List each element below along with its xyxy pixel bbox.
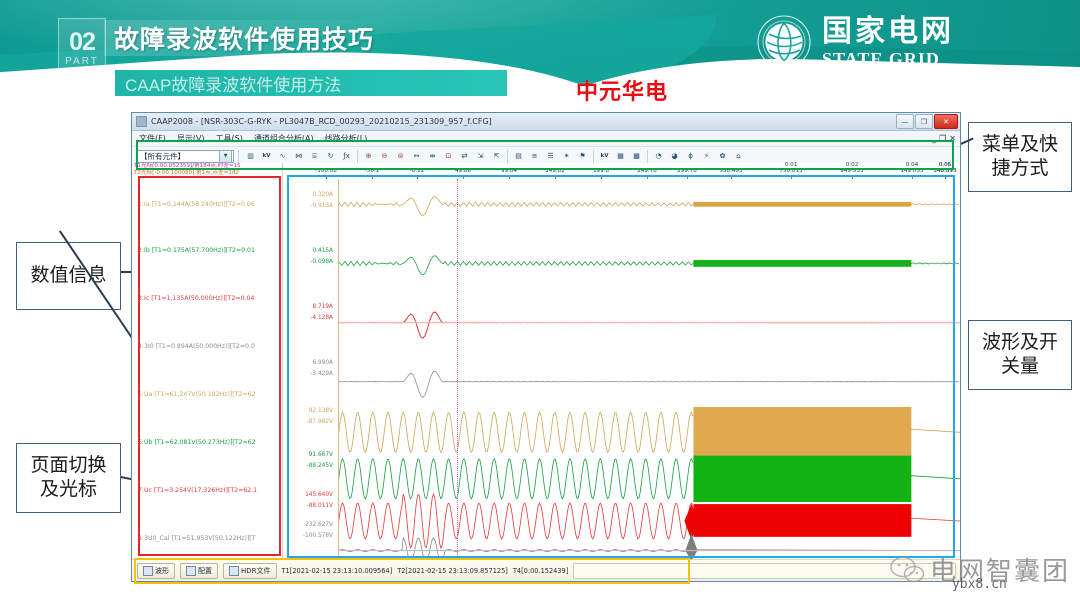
channel-item-3u0_cal[interactable]: 8:3U0_Cal [T1=51.953V(50.122Hz)][T bbox=[138, 535, 256, 542]
callout-wave-line1: 波形及开 bbox=[982, 332, 1058, 353]
callout-wave: 波形及开 关量 bbox=[968, 320, 1072, 390]
list-icon[interactable]: ≡ bbox=[527, 149, 542, 164]
menu-item-tools[interactable]: 工具(S) bbox=[216, 133, 243, 144]
zoom-fit-icon[interactable]: ⊜ bbox=[393, 149, 408, 164]
page-subtitle: CAAP故障录波软件使用方法 bbox=[125, 71, 341, 96]
waveform-plot-area[interactable]: 0.320A-0.913A0.415A-0.098A8.719A-4.128A6… bbox=[283, 179, 960, 559]
matrix-alt-icon[interactable]: ▩ bbox=[629, 149, 644, 164]
time-second-label: 0:01 bbox=[785, 162, 798, 168]
mdi-minimize-button[interactable]: _ bbox=[932, 134, 936, 143]
channel-item-ia[interactable]: 1:Ia [T1=0.144A(58.240Hz)][T2=0.06 bbox=[138, 201, 255, 208]
waveform-trace bbox=[339, 371, 959, 397]
menu-item-view[interactable]: 显示(V) bbox=[177, 133, 205, 144]
time-tick-label: -100.08 bbox=[315, 168, 337, 174]
time-tick-label: -50.1 bbox=[365, 168, 379, 174]
kv-label-icon[interactable]: kV bbox=[597, 149, 612, 164]
zoom-out-icon[interactable]: ⊖ bbox=[377, 149, 392, 164]
harmonic-icon[interactable]: ⌸ bbox=[307, 149, 322, 164]
scale-max-ib: 0.415A bbox=[285, 248, 333, 254]
mdi-close-button[interactable]: ✕ bbox=[949, 134, 956, 143]
state-grid-brand: 国家电网 STATE GRID bbox=[756, 14, 954, 70]
status-t4: T4[0:00.152439] bbox=[513, 567, 568, 575]
app-icon bbox=[136, 116, 147, 127]
lock-icon[interactable]: ⌂ bbox=[731, 149, 746, 164]
matrix-icon[interactable]: ▦ bbox=[613, 149, 628, 164]
slide-subtitle-bar: CAAP故障录波软件使用方法 bbox=[115, 70, 507, 96]
scale-max-uc: 145.640V bbox=[285, 492, 333, 498]
kv-units-icon[interactable]: kV bbox=[259, 149, 274, 164]
sequence-icon[interactable]: ⇱ bbox=[489, 149, 504, 164]
slide-title-bar: 故障录波软件使用技巧 bbox=[104, 20, 396, 56]
callout-menu-line1: 菜单及快 bbox=[982, 134, 1058, 155]
mdi-window-controls: _ ❐ ✕ bbox=[932, 134, 956, 143]
channel-item-3i0[interactable]: 4:3I0 [T1=0.894A(50.000Hz)][T2=0.0 bbox=[138, 343, 255, 350]
t2-cursor-line[interactable] bbox=[338, 179, 339, 559]
waveform-trace bbox=[339, 312, 959, 338]
zoom-region-icon[interactable]: ⊡ bbox=[441, 149, 456, 164]
status-tab-hdr-file[interactable]: HDR文件 bbox=[223, 563, 277, 579]
part-badge: 02 PART bbox=[58, 18, 106, 78]
toolbar-icon-group: ▥kV∿⋈⌸↻ƒx⊕⊖⊜↔⇹⊡⇄⇲⇱▤≡☰✶⚑kV▦▩◔◕ɸ⚡✿⌂ bbox=[243, 149, 746, 164]
time-tick-label: -0.12 bbox=[410, 168, 424, 174]
time-tick-label: 949.533 bbox=[840, 168, 863, 174]
status-tab-config-label: 配置 bbox=[198, 566, 212, 576]
callout-menu: 菜单及快 捷方式 bbox=[968, 122, 1072, 192]
grid-icon[interactable]: ▥ bbox=[243, 149, 258, 164]
status-bar-block bbox=[693, 504, 911, 537]
time-second-label: 0:06 bbox=[939, 162, 952, 168]
expand-horizontal-icon[interactable]: ↔ bbox=[409, 149, 424, 164]
time-axis: -100.08-50.1-0.1249.8699.84149.82199.824… bbox=[283, 163, 960, 179]
callout-page-switch-line1: 页面切换 bbox=[30, 455, 106, 476]
channel-item-ib[interactable]: 2:Ib [T1=0.175A(57.700Hz)][T2=0.01 bbox=[138, 247, 255, 254]
scale-min-ib: -0.098A bbox=[285, 259, 333, 265]
callout-page-switch-line2: 及光标 bbox=[40, 479, 97, 500]
circle-refresh-icon[interactable]: ↻ bbox=[323, 149, 338, 164]
channel-item-ic[interactable]: 3:Ic [T1=1.135A(50.000Hz)][T2=0.04 bbox=[138, 295, 254, 302]
time-tick-label: 750.013 bbox=[779, 168, 802, 174]
maximize-button[interactable]: ❐ bbox=[915, 114, 933, 129]
t1-cursor-line[interactable] bbox=[457, 179, 458, 559]
sine-wave-icon[interactable]: ∿ bbox=[275, 149, 290, 164]
time-second-label: 0:02 bbox=[846, 162, 859, 168]
mdi-restore-button[interactable]: ❐ bbox=[939, 134, 946, 143]
time-tick-label: 550.493 bbox=[719, 168, 742, 174]
status-tab-hdr-label: HDR文件 bbox=[241, 566, 271, 576]
cursor-info-block: T1光标[0:00.052359]/第184点,时差=15 T2光标[-0:00… bbox=[132, 163, 282, 177]
time-tick-label: 49.86 bbox=[455, 168, 471, 174]
flag-icon[interactable]: ⚑ bbox=[575, 149, 590, 164]
scale-min-3u0_cal: -100.578V bbox=[285, 533, 333, 539]
channel-info-panel: T1光标[0:00.052359]/第184点,时差=15 T2光标[-0:00… bbox=[132, 163, 283, 559]
scale-min-uc: -88.011V bbox=[285, 503, 333, 509]
time-tick-label: 99.84 bbox=[501, 168, 517, 174]
status-bar-block bbox=[693, 260, 911, 267]
window-body: T1光标[0:00.052359]/第184点,时差=15 T2光标[-0:00… bbox=[132, 163, 960, 559]
toolbar-separator bbox=[593, 150, 594, 163]
minimize-button[interactable]: — bbox=[896, 114, 914, 129]
list-detail-icon[interactable]: ☰ bbox=[543, 149, 558, 164]
menu-item-combined-analysis[interactable]: 通道组合分析(A) bbox=[254, 133, 314, 144]
phase-icon[interactable]: ɸ bbox=[683, 149, 698, 164]
toolbar-separator bbox=[357, 150, 358, 163]
scale-max-ic: 8.719A bbox=[285, 304, 333, 310]
callout-page-switch: 页面切换 及光标 bbox=[16, 443, 121, 513]
callout-menu-line2: 捷方式 bbox=[991, 158, 1048, 179]
toolbar-separator bbox=[507, 150, 508, 163]
time-tick-label: 149.053 bbox=[900, 168, 923, 174]
scale-min-ic: -4.128A bbox=[285, 315, 333, 321]
window-title: CAAP2008 - [NSR-303C-G-RYK - PL3047B_RCD… bbox=[151, 117, 492, 126]
channel-item-ua[interactable]: 5:Ua [T1=61.247V(50.182Hz)][T2=62 bbox=[138, 391, 256, 398]
time-tick-label: 299.76 bbox=[677, 168, 697, 174]
menu-item-file[interactable]: 文件(F) bbox=[139, 133, 166, 144]
scale-min-ia: -0.913A bbox=[285, 203, 333, 209]
status-t2: T2[2021-02-15 23:13:09.857125] bbox=[397, 567, 508, 575]
align-icon[interactable]: ⇄ bbox=[457, 149, 472, 164]
scale-max-ua: 92.138V bbox=[285, 408, 333, 414]
timer-icon[interactable]: ◕ bbox=[667, 149, 682, 164]
scale-min-ua: -87.982V bbox=[285, 419, 333, 425]
status-t1: T1[2021-02-15 23:13:10.009564] bbox=[282, 567, 393, 575]
time-tick-label: 199.8 bbox=[593, 168, 609, 174]
waveform-panel[interactable]: -100.08-50.1-0.1249.8699.84149.82199.824… bbox=[283, 163, 960, 559]
time-tick-label: 249.78 bbox=[637, 168, 657, 174]
slide-header: 02 PART 故障录波软件使用技巧 CAAP故障录波软件使用方法 中元华电 国… bbox=[0, 0, 1080, 110]
cursor-info-t1: T1光标[0:00.052359]/第184点,时差=15 bbox=[134, 163, 280, 170]
time-tick-label: 149.82 bbox=[545, 168, 565, 174]
status-tab-config[interactable]: 配置 bbox=[180, 563, 218, 579]
table-icon[interactable]: ▤ bbox=[511, 149, 526, 164]
scale-max-ub: 91.667V bbox=[285, 452, 333, 458]
part-word: PART bbox=[65, 57, 99, 67]
zero-sequence-marker-icon bbox=[685, 534, 697, 559]
settings-icon[interactable]: ✿ bbox=[715, 149, 730, 164]
window-controls: — ❐ ✕ bbox=[896, 114, 958, 129]
toolbar-separator bbox=[647, 150, 648, 163]
cursor-info-t2: T2光标[-0:00.100080],第1点,点差=182 bbox=[134, 170, 280, 177]
menu-item-line-analysis[interactable]: 线路分析(L) bbox=[325, 133, 368, 144]
scale-max-ia: 0.320A bbox=[285, 192, 333, 198]
compare-icon[interactable]: ⇲ bbox=[473, 149, 488, 164]
brand-name-en: STATE GRID bbox=[822, 50, 954, 68]
channel-item-uc[interactable]: 7:Uc [T1=3.254V(17.326Hz)][T2=62.1 bbox=[138, 487, 257, 494]
window-titlebar[interactable]: CAAP2008 - [NSR-303C-G-RYK - PL3047B_RCD… bbox=[132, 113, 960, 131]
callout-wave-line2: 关量 bbox=[1001, 356, 1039, 377]
chevron-down-icon[interactable]: ▼ bbox=[219, 150, 232, 163]
status-bar-block bbox=[693, 407, 911, 456]
element-filter-value: 【所有元件】 bbox=[140, 151, 185, 162]
time-second-label: 0:04 bbox=[906, 162, 919, 168]
menu-bar: 文件(F) 显示(V) 工具(S) 通道组合分析(A) 线路分析(L) _ ❐ … bbox=[132, 131, 960, 147]
waveform-canvas bbox=[283, 179, 960, 559]
config-icon bbox=[186, 566, 196, 576]
status-tab-waveform[interactable]: 波形 bbox=[137, 563, 175, 579]
state-grid-emblem-icon bbox=[756, 14, 812, 70]
hdr-file-icon bbox=[229, 566, 239, 576]
star-icon[interactable]: ✶ bbox=[559, 149, 574, 164]
caap2008-window: CAAP2008 - [NSR-303C-G-RYK - PL3047B_RCD… bbox=[131, 112, 961, 582]
watermark-url: ybx8.cn bbox=[952, 577, 1007, 592]
toolbar-separator bbox=[238, 150, 239, 163]
waveform-trace bbox=[339, 538, 960, 559]
callout-menu-label: 菜单及快 捷方式 bbox=[982, 133, 1058, 181]
wechat-icon bbox=[890, 555, 924, 585]
scale-min-3i0: -3.429A bbox=[285, 371, 333, 377]
callout-wave-label: 波形及开 关量 bbox=[982, 331, 1058, 379]
scale-min-ub: -88.245V bbox=[285, 463, 333, 469]
scale-max-3u0_cal: 232.627V bbox=[285, 522, 333, 528]
vector-icon[interactable]: ⋈ bbox=[291, 149, 306, 164]
status-tab-waveform-label: 波形 bbox=[155, 566, 169, 576]
collapse-horizontal-icon[interactable]: ⇹ bbox=[425, 149, 440, 164]
channel-list: 1:Ia [T1=0.144A(58.240Hz)][T2=0.062:Ib [… bbox=[132, 179, 282, 553]
waveform-icon bbox=[143, 566, 153, 576]
watermark: 电网智囊团 ybx8.cn bbox=[890, 551, 1070, 588]
page-title: 故障录波软件使用技巧 bbox=[114, 20, 374, 56]
status-bar-block bbox=[693, 456, 911, 502]
element-filter-dropdown[interactable]: 【所有元件】 ▼ bbox=[136, 150, 234, 163]
fault-icon[interactable]: ⚡ bbox=[699, 149, 714, 164]
channel-item-ub[interactable]: 6:Ub [T1=62.081V(50.273Hz)][T2=62 bbox=[138, 439, 256, 446]
zoom-in-icon[interactable]: ⊕ bbox=[361, 149, 376, 164]
part-number: 02 bbox=[69, 30, 95, 55]
close-button[interactable]: ✕ bbox=[934, 114, 958, 129]
status-bar: 波形 配置 HDR文件 T1[2021-02-15 23:13:10.00956… bbox=[132, 559, 960, 581]
status-bar-block bbox=[693, 202, 911, 207]
clock-icon[interactable]: ◔ bbox=[651, 149, 666, 164]
brand-name-cn: 国家电网 bbox=[822, 17, 954, 47]
time-tick-label: 548.093 bbox=[933, 168, 956, 174]
callout-page-switch-label: 页面切换 及光标 bbox=[30, 454, 106, 502]
fx-function-icon[interactable]: ƒx bbox=[339, 149, 354, 164]
vendor-label: 中元华电 bbox=[576, 74, 668, 106]
scale-max-3i0: 6.990A bbox=[285, 360, 333, 366]
